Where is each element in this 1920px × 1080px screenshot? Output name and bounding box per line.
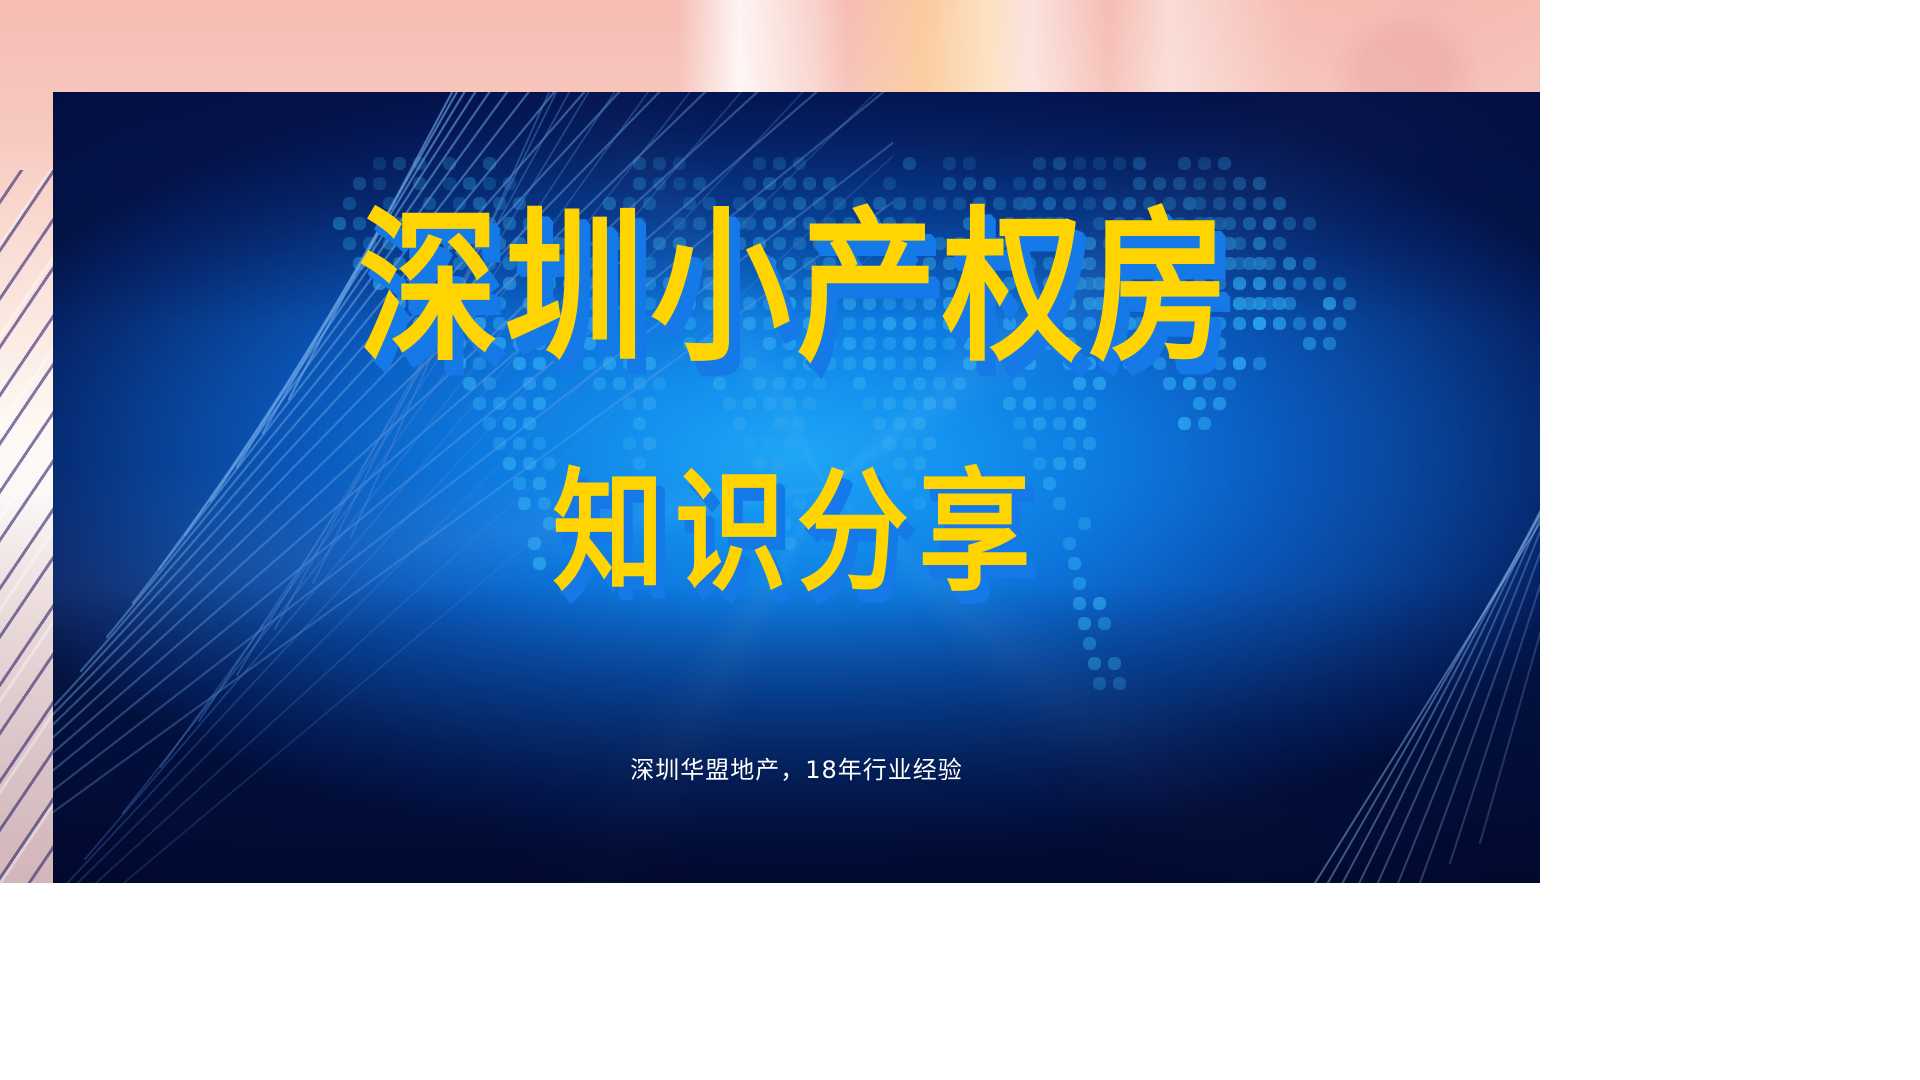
- slide-stage: 深圳小产权房 知识分享 深圳华盟地产，18年行业经验: [0, 0, 1540, 883]
- slide-title-line-2-text: 知识分享: [553, 467, 1041, 599]
- slide-title-line-2: 知识分享: [53, 467, 1540, 579]
- slide-subtitle: 深圳华盟地产，18年行业经验: [53, 750, 1540, 785]
- slide-title-line-1-text: 深圳小产权房: [358, 207, 1234, 372]
- slide-panel: 深圳小产权房 知识分享 深圳华盟地产，18年行业经验: [53, 92, 1540, 883]
- frame-diagonal-hatch-light: [0, 170, 60, 883]
- slide-subtitle-text: 深圳华盟地产，18年行业经验: [630, 756, 963, 784]
- slide-title-line-1: 深圳小产权房: [53, 207, 1540, 347]
